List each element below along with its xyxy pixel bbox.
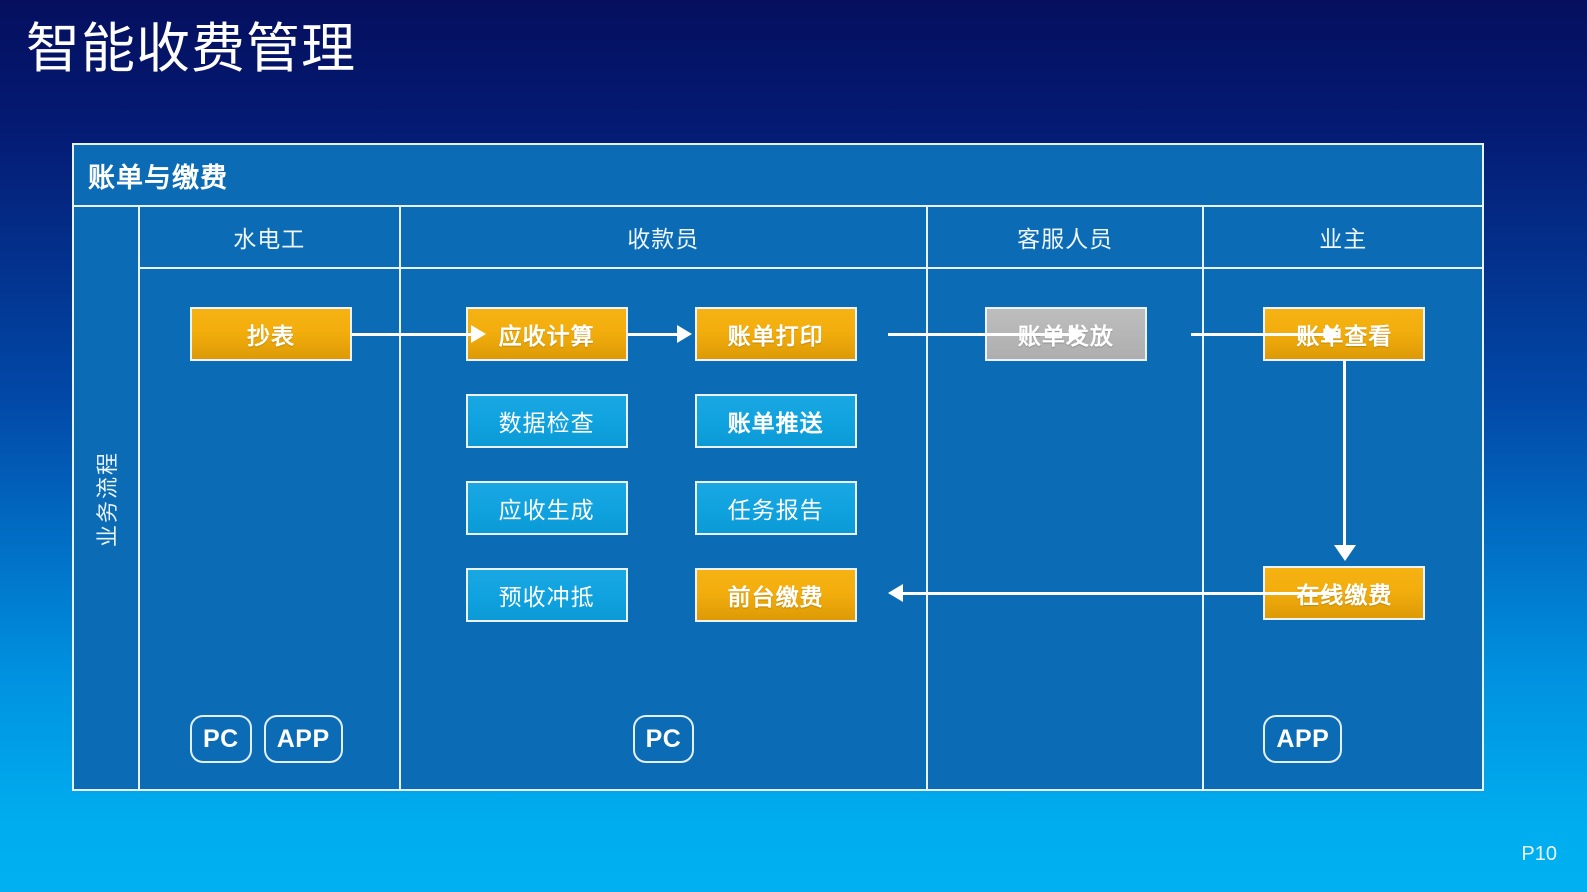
swimlane-columns: 水电工 抄表 PC APP 收款员 应收计算 数据检查 应收生成 预收冲抵 账单… <box>140 207 1482 789</box>
badge-app[interactable]: APP <box>264 715 343 763</box>
arrow-billview-to-onlinepay-head <box>1334 545 1356 561</box>
node-front-desk-payment[interactable]: 前台缴费 <box>695 568 857 622</box>
platform-badges-cashier: PC <box>633 715 695 763</box>
badge-app[interactable]: APP <box>1263 715 1342 763</box>
page-title: 智能收费管理 <box>26 16 356 84</box>
node-data-check[interactable]: 数据检查 <box>466 394 628 448</box>
lane-cashier: 收款员 应收计算 数据检查 应收生成 预收冲抵 账单打印 账单推送 任务报告 前… <box>401 207 928 789</box>
node-bill-push[interactable]: 账单推送 <box>695 394 857 448</box>
lane-body-electrician: 抄表 PC APP <box>140 269 399 789</box>
lane-header-customer-service: 客服人员 <box>928 207 1203 269</box>
lane-header-electrician: 水电工 <box>140 207 399 269</box>
lane-customer-service: 客服人员 账单发放 <box>928 207 1205 789</box>
node-online-payment[interactable]: 在线缴费 <box>1263 566 1425 620</box>
badge-pc[interactable]: PC <box>190 715 252 763</box>
lane-body-customer-service: 账单发放 <box>928 269 1203 789</box>
node-bill-view[interactable]: 账单查看 <box>1263 307 1425 361</box>
row-label-rail: 业务流程 <box>74 207 140 791</box>
node-receivable-generation[interactable]: 应收生成 <box>466 481 628 535</box>
platform-badges-electrician: PC APP <box>190 715 343 763</box>
lane-header-cashier: 收款员 <box>401 207 926 269</box>
lane-owner: 业主 账单查看 在线缴费 APP <box>1204 207 1482 789</box>
badge-pc[interactable]: PC <box>633 715 695 763</box>
node-prepaid-offset[interactable]: 预收冲抵 <box>466 568 628 622</box>
row-label-business-process: 业务流程 <box>90 451 122 547</box>
lane-header-owner: 业主 <box>1204 207 1482 269</box>
node-receivable-calculation[interactable]: 应收计算 <box>466 307 628 361</box>
node-bill-printing[interactable]: 账单打印 <box>695 307 857 361</box>
arrow-calculation-to-printing-head <box>677 325 692 343</box>
platform-badges-owner: APP <box>1263 715 1342 763</box>
node-task-report[interactable]: 任务报告 <box>695 481 857 535</box>
node-bill-distribution[interactable]: 账单发放 <box>985 307 1147 361</box>
lane-body-owner: 账单查看 在线缴费 APP <box>1204 269 1482 789</box>
page-number: P10 <box>1521 843 1557 866</box>
connector-calculation-to-printing <box>628 333 680 336</box>
section-title: 账单与缴费 <box>74 156 228 195</box>
process-diagram: 账单与缴费 业务流程 水电工 抄表 PC APP 收款员 应收计算 数据检查 <box>72 143 1484 791</box>
connector-billview-to-onlinepay <box>1343 361 1346 547</box>
lane-electrician: 水电工 抄表 PC APP <box>140 207 401 789</box>
lane-body-cashier: 应收计算 数据检查 应收生成 预收冲抵 账单打印 账单推送 任务报告 前台缴费 … <box>401 269 926 789</box>
node-meter-reading[interactable]: 抄表 <box>190 307 352 361</box>
diagram-section-header: 账单与缴费 <box>74 145 1482 207</box>
